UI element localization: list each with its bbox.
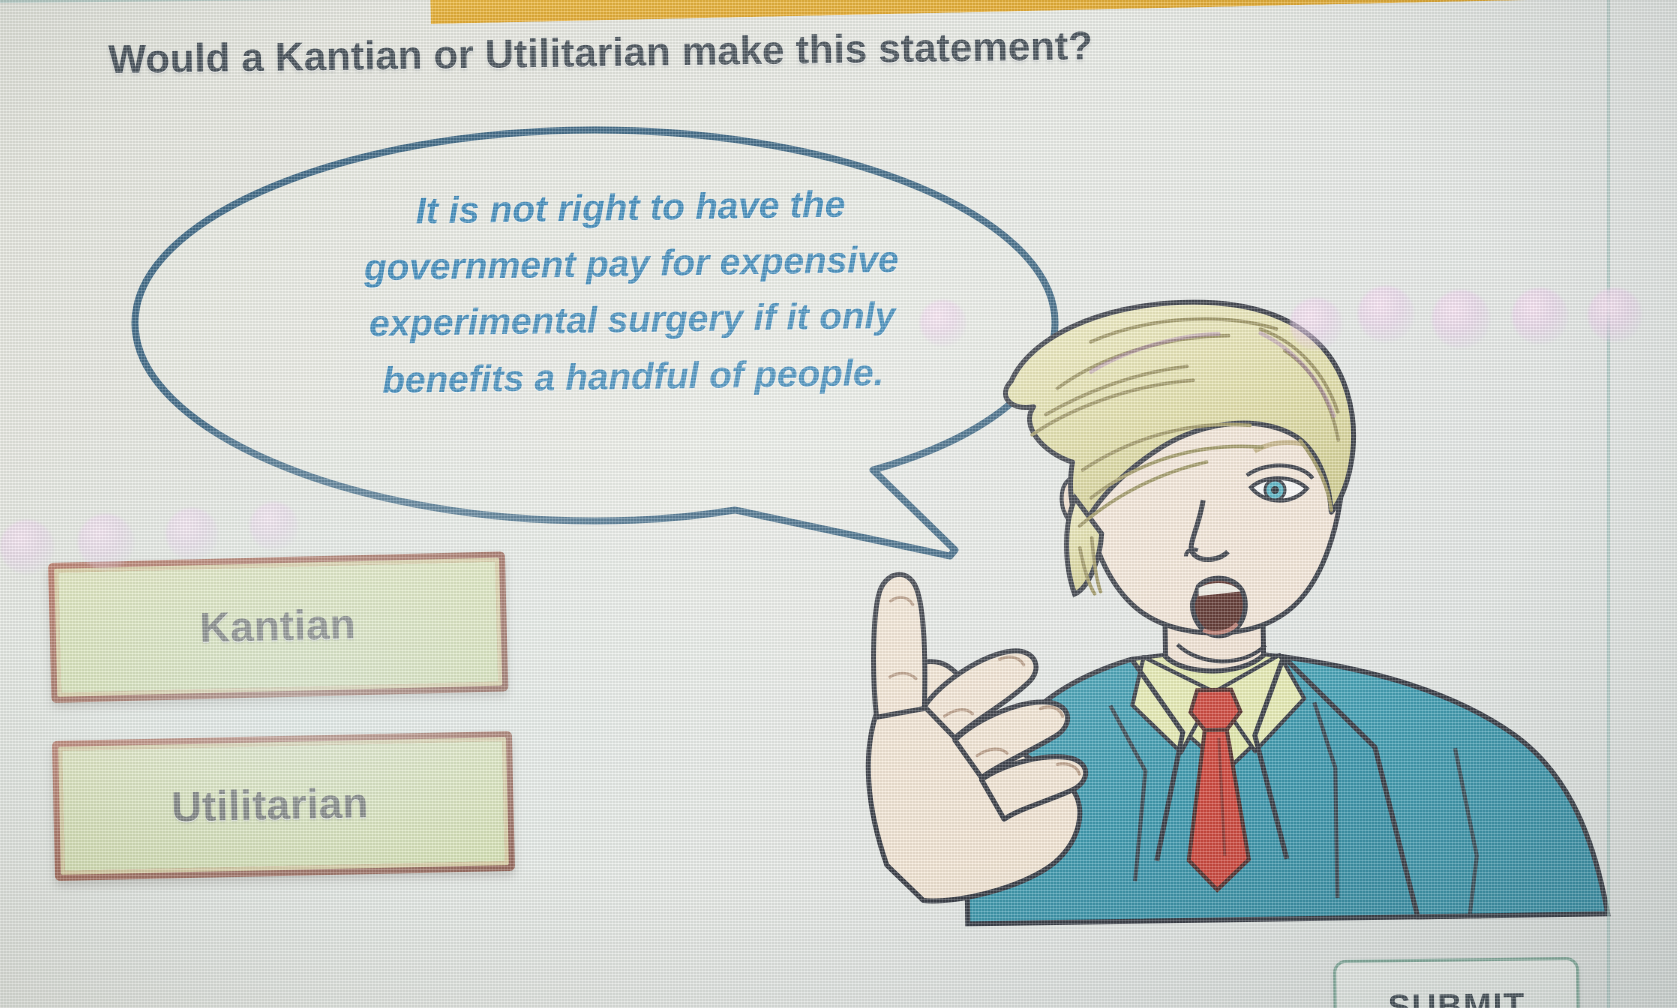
character-artwork <box>808 294 1618 926</box>
answer-option-utilitarian-label: Utilitarian <box>91 779 369 833</box>
answer-option-utilitarian[interactable]: Utilitarian <box>52 731 515 881</box>
submit-button[interactable]: SUBMIT <box>1333 957 1580 1008</box>
answer-option-utilitarian-inner: Utilitarian <box>58 737 509 875</box>
illustration-surprised-man <box>808 294 1618 926</box>
answer-option-kantian[interactable]: Kantian <box>48 551 508 703</box>
answer-option-kantian-inner: Kantian <box>54 558 502 697</box>
submit-button-label: SUBMIT <box>1388 986 1526 1008</box>
photographed-screen: Would a Kantian or Utilitarian make this… <box>0 0 1677 1008</box>
answer-option-kantian-label: Kantian <box>87 600 356 655</box>
